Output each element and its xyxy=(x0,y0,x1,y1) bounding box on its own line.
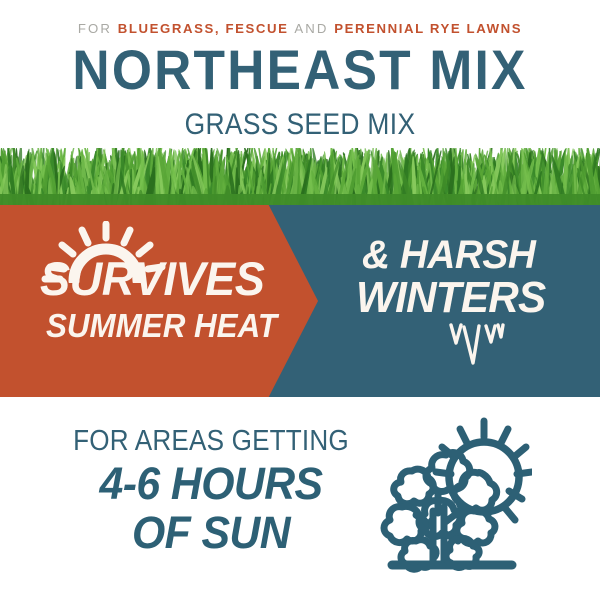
summer-subline: SUMMER HEAT xyxy=(46,307,277,345)
tagline-species-second: PERENNIAL RYE LAWNS xyxy=(334,21,522,36)
sun-requirement-line1: FOR AREAS GETTING xyxy=(68,425,354,457)
sun-requirement-copy: FOR AREAS GETTING 4-6 HOURS OF SUN xyxy=(52,425,370,557)
sun-requirement-section: FOR AREAS GETTING 4-6 HOURS OF SUN xyxy=(0,397,600,600)
tagline-word-and: AND xyxy=(294,21,328,36)
icicles-icon xyxy=(448,321,506,365)
tagline: FOR BLUEGRASS, FESCUE AND PERENNIAL RYE … xyxy=(0,21,600,36)
winter-subline: WINTERS xyxy=(356,274,545,322)
tagline-word-for: FOR xyxy=(78,21,112,36)
header-section: FOR BLUEGRASS, FESCUE AND PERENNIAL RYE … xyxy=(0,0,600,148)
tagline-species-first: BLUEGRASS, FESCUE xyxy=(118,21,289,36)
tree-with-sun-icon xyxy=(372,415,532,575)
sun-requirement-line2: 4-6 HOURS xyxy=(60,459,362,508)
page-title: NORTHEAST MIX xyxy=(24,38,576,102)
grass-photo-band xyxy=(0,142,600,206)
summer-headline: SURVIVES xyxy=(40,253,264,305)
product-label: FOR BLUEGRASS, FESCUE AND PERENNIAL RYE … xyxy=(0,0,600,600)
benefits-split-panel: SURVIVES SUMMER HEAT & HARSH WINTERS xyxy=(0,205,600,397)
sun-requirement-line3: OF SUN xyxy=(60,508,362,557)
winter-headline: & HARSH xyxy=(362,233,535,277)
page-subtitle: GRASS SEED MIX xyxy=(36,108,564,142)
